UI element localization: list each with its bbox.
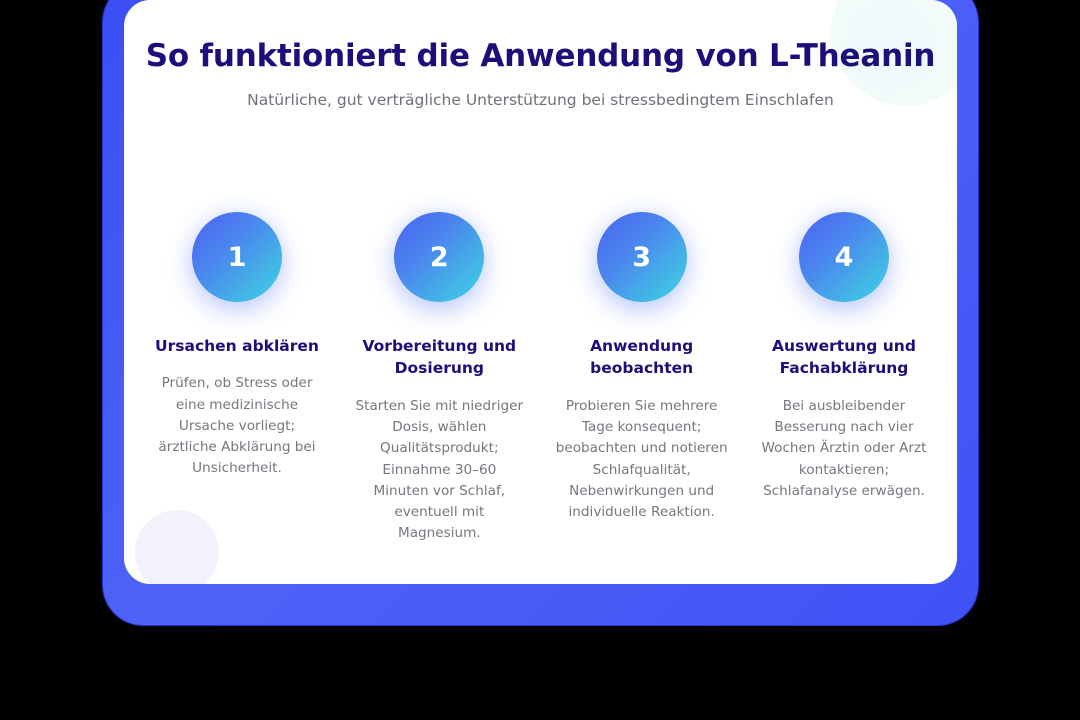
step-item-2: 2 Vorbereitung und Dosierung Starten Sie… [344,212,534,544]
page-title: So funktioniert die Anwendung von L-Thea… [124,0,957,75]
step-item-1: 1 Ursachen abklären Prüfen, ob Stress od… [142,212,332,479]
steps-list: 1 Ursachen abklären Prüfen, ob Stress od… [142,212,939,544]
step-description-4: Bei ausbleibender Besserung nach vier Wo… [758,396,930,502]
infographic-frame: So funktioniert die Anwendung von L-Thea… [103,0,978,625]
step-number-4: 4 [835,242,854,273]
step-description-3: Probieren Sie mehrere Tage konsequent; b… [556,396,728,523]
step-title-3: Anwendung beobachten [554,335,729,380]
step-badge-2: 2 [394,212,484,302]
step-title-4: Auswertung und Fachabklärung [756,335,931,380]
step-description-1: Prüfen, ob Stress oder eine medizinische… [151,373,323,479]
step-item-4: 4 Auswertung und Fachabklärung Bei ausbl… [749,212,939,502]
step-badge-3: 3 [597,212,687,302]
infographic-card: So funktioniert die Anwendung von L-Thea… [124,0,957,584]
step-title-2: Vorbereitung und Dosierung [352,335,527,380]
step-badge-4: 4 [799,212,889,302]
step-title-1: Ursachen abklären [155,335,319,357]
step-badge-1: 1 [192,212,282,302]
step-number-1: 1 [228,242,247,273]
step-number-3: 3 [632,242,651,273]
page-subtitle: Natürliche, gut verträgliche Unterstützu… [124,75,957,112]
step-description-2: Starten Sie mit niedriger Dosis, wählen … [353,396,525,544]
header: So funktioniert die Anwendung von L-Thea… [124,0,957,112]
step-number-2: 2 [430,242,449,273]
step-item-3: 3 Anwendung beobachten Probieren Sie meh… [547,212,737,523]
